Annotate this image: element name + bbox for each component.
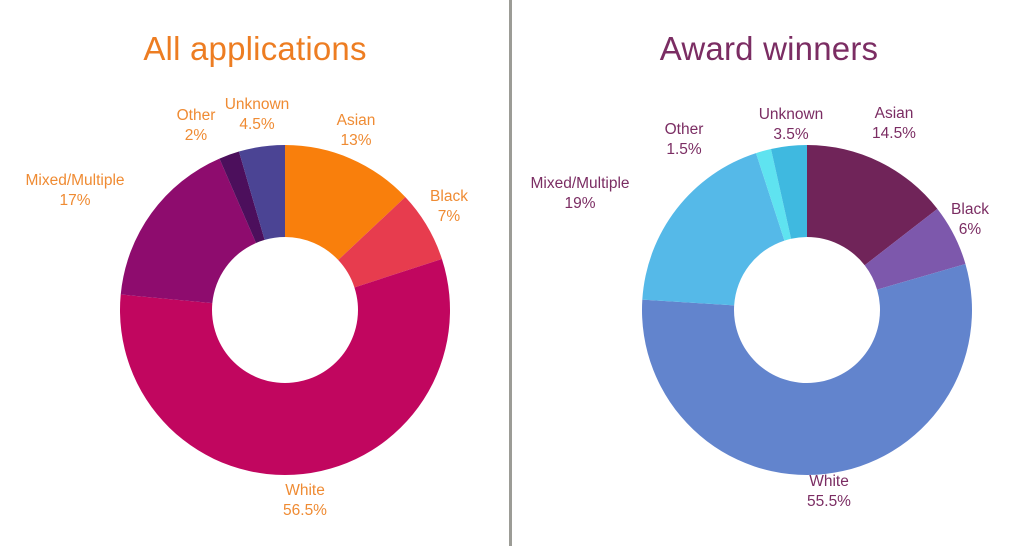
chart-figure: All applications Asian 13% Black 7% Whit… <box>0 0 1024 546</box>
donut-svg-all-applications <box>0 0 510 546</box>
panel-all-applications: All applications Asian 13% Black 7% Whit… <box>0 0 510 546</box>
donut-svg-award-winners <box>514 0 1024 546</box>
donut-chart-award-winners <box>514 0 1024 546</box>
panel-divider <box>509 0 512 546</box>
donut-slice-mixed-multiple[interactable] <box>642 153 784 305</box>
donut-chart-all-applications <box>0 0 510 546</box>
panel-award-winners: Award winners Asian 14.5% Black 6% White… <box>514 0 1024 546</box>
